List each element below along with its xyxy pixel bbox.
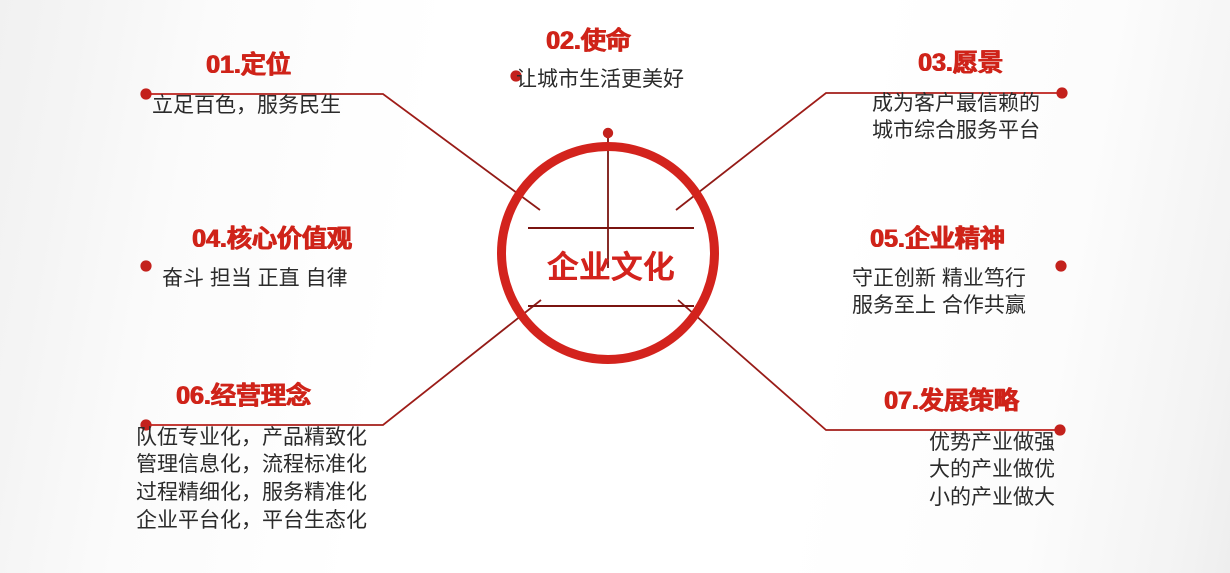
node-06-line-2: 管理信息化，流程标准化 (136, 451, 466, 479)
node-03[interactable]: 03.愿景 成为客户最信赖的 城市综合服务平台 (872, 50, 1132, 145)
node-07-body: 优势产业做强 大的产业做优 小的产业做大 (888, 429, 1096, 513)
node-05-line-2: 服务至上 合作共赢 (852, 292, 1152, 320)
center-label-box: 企业文化 (528, 227, 694, 307)
node-06-title: 06.经营理念 (136, 383, 466, 410)
node-03-body: 成为客户最信赖的 城市综合服务平台 (872, 90, 1132, 146)
node-05-body: 守正创新 精业笃行 服务至上 合作共赢 (852, 265, 1152, 321)
node-07-line-1: 优势产业做强 (888, 429, 1096, 457)
node-04[interactable]: 04.核心价值观 奋斗 担当 正直 自律 (152, 226, 472, 292)
node-02[interactable]: 02.使命 让城市生活更美好 (516, 28, 816, 93)
node-07-line-2: 大的产业做优 (888, 456, 1096, 484)
node-03-title: 03.愿景 (872, 50, 1132, 77)
node-06-body: 队伍专业化，产品精致化 管理信息化，流程标准化 过程精细化，服务精准化 企业平台… (136, 424, 466, 536)
node-02-line-1: 让城市生活更美好 (516, 66, 816, 94)
node-01-line-1: 立足百色，服务民生 (152, 92, 452, 120)
node-02-body: 让城市生活更美好 (516, 66, 816, 94)
node-07-title: 07.发展策略 (856, 388, 1136, 415)
node-05-line-1: 守正创新 精业笃行 (852, 265, 1152, 293)
node-05[interactable]: 05.企业精神 守正创新 精业笃行 服务至上 合作共赢 (852, 226, 1152, 320)
node-04-body: 奋斗 担当 正直 自律 (152, 265, 472, 293)
node-03-line-2: 城市综合服务平台 (872, 117, 1132, 145)
node-01-body: 立足百色，服务民生 (152, 92, 452, 120)
node-06[interactable]: 06.经营理念 队伍专业化，产品精致化 管理信息化，流程标准化 过程精细化，服务… (136, 383, 466, 535)
node-07[interactable]: 07.发展策略 优势产业做强 大的产业做优 小的产业做大 (856, 388, 1136, 512)
diagram-canvas: 企业文化 01.定位 立足百色，服务民生 02.使命 让城市生活更美好 03.愿… (0, 0, 1230, 573)
node-01-title: 01.定位 (152, 52, 452, 79)
node-04-line-1: 奋斗 担当 正直 自律 (162, 265, 472, 293)
center-label: 企业文化 (547, 252, 675, 283)
node-02-title: 02.使命 (516, 28, 816, 55)
node-06-line-4: 企业平台化，平台生态化 (136, 507, 466, 535)
node-04-title: 04.核心价值观 (152, 226, 472, 253)
node-03-line-1: 成为客户最信赖的 (872, 90, 1132, 118)
node-07-line-3: 小的产业做大 (888, 484, 1096, 512)
node-01[interactable]: 01.定位 立足百色，服务民生 (152, 52, 452, 119)
node-05-title: 05.企业精神 (852, 226, 1152, 253)
node-06-line-1: 队伍专业化，产品精致化 (136, 424, 466, 452)
node-06-line-3: 过程精细化，服务精准化 (136, 479, 466, 507)
